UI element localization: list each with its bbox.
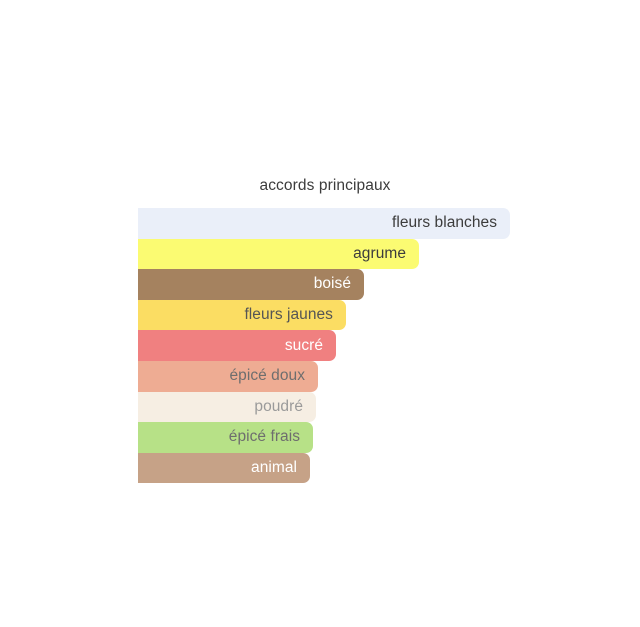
bar-row[interactable]: épicé frais bbox=[138, 422, 558, 453]
bar-chart-bars: fleurs blanchesagrumeboiséfleurs jauness… bbox=[138, 208, 558, 483]
bar-label: épicé doux bbox=[230, 367, 318, 385]
bar-fill[interactable]: animal bbox=[138, 453, 310, 484]
bar-row[interactable]: sucré bbox=[138, 330, 558, 361]
bar-fill[interactable]: agrume bbox=[138, 239, 419, 270]
bar-row[interactable]: poudré bbox=[138, 392, 558, 423]
bar-row[interactable]: fleurs blanches bbox=[138, 208, 558, 239]
bar-row[interactable]: épicé doux bbox=[138, 361, 558, 392]
bar-label: agrume bbox=[353, 245, 419, 263]
bar-fill[interactable]: épicé doux bbox=[138, 361, 318, 392]
bar-fill[interactable]: boisé bbox=[138, 269, 364, 300]
bar-row[interactable]: animal bbox=[138, 453, 558, 484]
bar-label: épicé frais bbox=[229, 428, 313, 446]
bar-label: fleurs blanches bbox=[392, 214, 510, 232]
chart-title: accords principaux bbox=[138, 176, 512, 196]
bar-label: fleurs jaunes bbox=[244, 306, 346, 324]
accords-principaux-chart-panel: accords principaux fleurs blanchesagrume… bbox=[0, 0, 640, 627]
bar-label: boisé bbox=[314, 275, 364, 293]
bar-fill[interactable]: fleurs blanches bbox=[138, 208, 510, 239]
bar-label: animal bbox=[251, 459, 310, 477]
bar-row[interactable]: agrume bbox=[138, 239, 558, 270]
bar-fill[interactable]: fleurs jaunes bbox=[138, 300, 346, 331]
bar-row[interactable]: boisé bbox=[138, 269, 558, 300]
bar-fill[interactable]: poudré bbox=[138, 392, 316, 423]
bar-fill[interactable]: sucré bbox=[138, 330, 336, 361]
bar-fill[interactable]: épicé frais bbox=[138, 422, 313, 453]
bar-label: poudré bbox=[254, 398, 316, 416]
bar-label: sucré bbox=[285, 337, 336, 355]
bar-row[interactable]: fleurs jaunes bbox=[138, 300, 558, 331]
